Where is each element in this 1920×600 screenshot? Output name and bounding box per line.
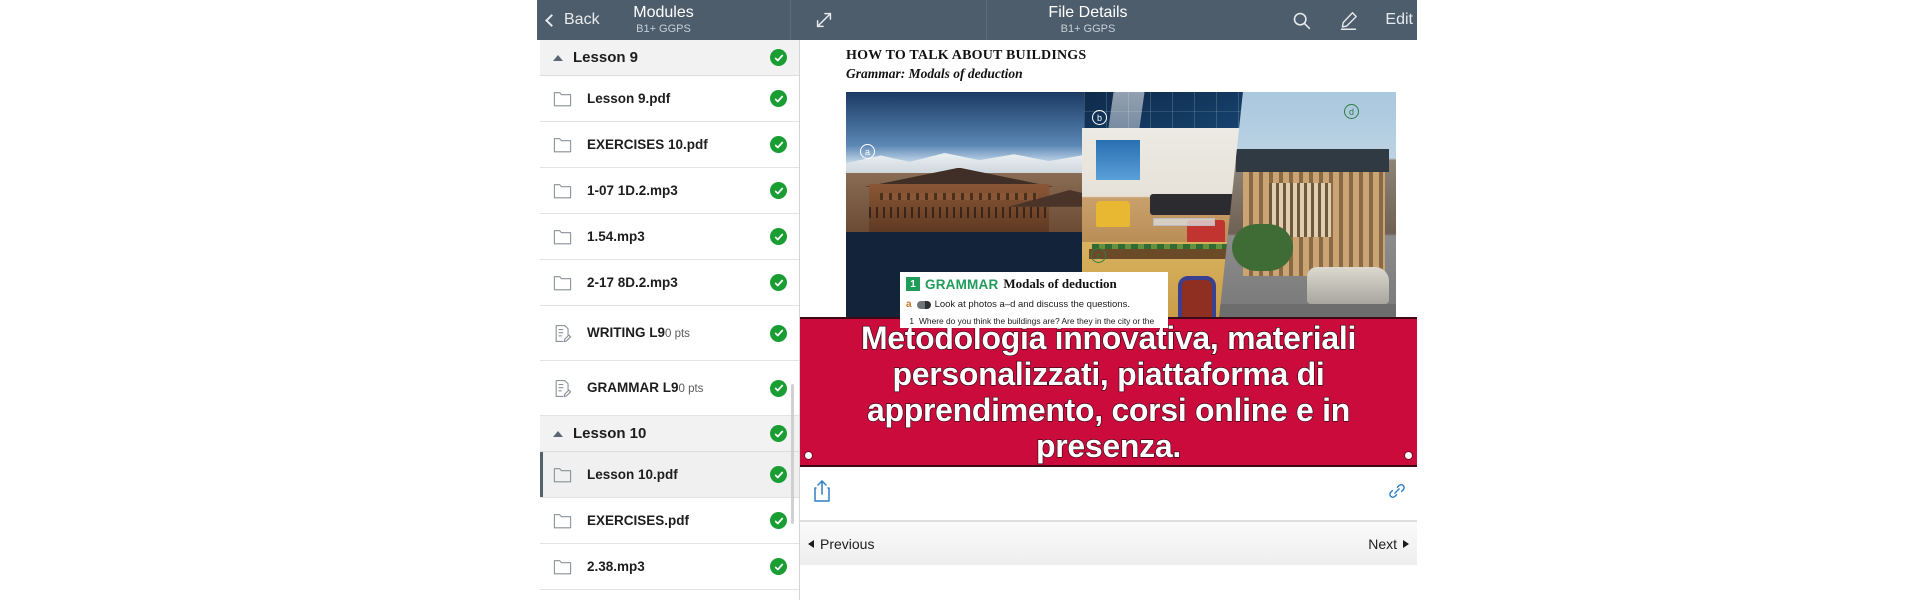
list-item-name: 1.54.mp3 — [587, 229, 645, 244]
list-item[interactable]: Lesson 9.pdf — [540, 76, 799, 122]
grammar-topic: Modals of deduction — [1003, 276, 1116, 292]
status-complete-icon — [770, 380, 787, 397]
list-item-text: 2.38.mp3 — [587, 558, 770, 576]
promo-banner: Metodologia innovativa, materiali person… — [800, 317, 1417, 467]
file-details-subtitle: B1+ GGPS — [987, 22, 1189, 36]
list-item[interactable]: 2.38.mp3 — [540, 544, 799, 590]
file-action-toolbar — [800, 467, 1417, 521]
grammar-task: a Look at photos a–d and discuss the que… — [906, 299, 1164, 311]
folder-icon — [553, 136, 575, 153]
chevron-left-icon — [545, 14, 558, 27]
list-item[interactable]: 2-17 8D.2.mp3 — [540, 260, 799, 306]
search-icon[interactable] — [1291, 10, 1312, 31]
caret-up-icon[interactable] — [553, 55, 563, 61]
status-complete-icon — [770, 228, 787, 245]
grammar-number-badge: 1 — [906, 277, 920, 291]
folder-icon — [553, 274, 575, 291]
photo-interior-lounge — [1082, 128, 1252, 246]
status-complete-icon — [770, 90, 787, 107]
list-item-name: 1-07 1D.2.mp3 — [587, 183, 678, 198]
folder-icon — [553, 182, 575, 199]
list-item-text: WRITING L90 pts — [587, 324, 770, 342]
share-upload-icon[interactable] — [812, 479, 832, 508]
status-complete-icon — [770, 49, 787, 66]
header-file-details-section: File Details B1+ GGPS Edit — [987, 0, 1417, 40]
list-item-name: EXERCISES.pdf — [587, 513, 689, 528]
modules-sidebar[interactable]: Lesson 9Lesson 9.pdfEXERCISES 10.pdf1-07… — [540, 40, 800, 600]
photo-collage: a b c d 1 GRAMMAR Modals of deduction a … — [846, 92, 1396, 328]
grammar-question-text: Where do you think the buildings are? Ar… — [919, 316, 1164, 328]
list-item[interactable]: EXERCISES.pdf — [540, 498, 799, 544]
header-modules-section: Back Modules B1+ GGPS — [537, 0, 791, 40]
grammar-exercise-block: 1 GRAMMAR Modals of deduction a Look at … — [900, 272, 1168, 328]
photo-d-japanese-house — [1218, 92, 1396, 328]
list-item-name: GRAMMAR L9 — [587, 380, 679, 395]
list-item-text: GRAMMAR L90 pts — [587, 379, 770, 397]
list-item[interactable]: 1-07 1D.2.mp3 — [540, 168, 799, 214]
folder-icon — [553, 558, 575, 575]
file-details-pane: HOW TO TALK ABOUT BUILDINGS Grammar: Mod… — [800, 40, 1417, 600]
list-item-points: 0 pts — [679, 383, 704, 395]
status-complete-icon — [770, 425, 787, 442]
sidebar-section-header[interactable]: Lesson 9 — [540, 40, 799, 76]
status-complete-icon — [770, 182, 787, 199]
edit-button[interactable]: Edit — [1385, 11, 1413, 29]
list-item-text: 1.54.mp3 — [587, 228, 770, 246]
promo-banner-text: Metodologia innovativa, materiali person… — [800, 320, 1417, 464]
caret-up-icon[interactable] — [553, 431, 563, 437]
list-item-name: Lesson 10.pdf — [587, 467, 678, 482]
status-complete-icon — [770, 466, 787, 483]
banner-dot-left — [804, 451, 813, 460]
pdf-page-preview[interactable]: HOW TO TALK ABOUT BUILDINGS Grammar: Mod… — [846, 48, 1396, 335]
header-action-group: Edit — [1291, 0, 1417, 40]
sidebar-section-title: Lesson 9 — [573, 49, 770, 66]
next-button[interactable]: Next — [1368, 536, 1409, 552]
list-item-text: 2-17 8D.2.mp3 — [587, 274, 770, 292]
grammar-question: 1Where do you think the buildings are? A… — [906, 316, 1164, 328]
folder-icon — [553, 228, 575, 245]
list-item-text: 1-07 1D.2.mp3 — [587, 182, 770, 200]
grammar-heading: 1 GRAMMAR Modals of deduction — [906, 276, 1164, 292]
back-button[interactable]: Back — [537, 11, 600, 29]
next-label: Next — [1368, 536, 1397, 552]
grammar-label: GRAMMAR — [925, 277, 998, 292]
status-complete-icon — [770, 512, 787, 529]
header-expand-section — [791, 0, 987, 40]
list-item-text: EXERCISES 10.pdf — [587, 136, 770, 154]
pagination-bar: Previous Next — [800, 521, 1417, 565]
file-details-title: File Details — [987, 4, 1189, 22]
assignment-icon — [553, 324, 575, 343]
list-item-points: 0 pts — [665, 328, 690, 340]
photo-label-c: c — [1091, 248, 1106, 263]
detail-pane-filler — [800, 565, 1417, 600]
folder-icon — [553, 512, 575, 529]
app-root: Back Modules B1+ GGPS File Details B1+ G… — [0, 0, 1920, 600]
previous-label: Previous — [820, 536, 874, 552]
folder-icon — [553, 90, 575, 107]
list-item-selected[interactable]: Lesson 10.pdf — [540, 452, 799, 498]
grammar-task-letter: a — [906, 299, 912, 311]
assignment-icon — [553, 379, 575, 398]
back-button-label: Back — [564, 11, 600, 29]
grammar-question-number: 1 — [906, 316, 914, 328]
top-header-bar: Back Modules B1+ GGPS File Details B1+ G… — [537, 0, 1417, 40]
photo-label-a: a — [860, 144, 875, 159]
photo-label-b: b — [1092, 110, 1107, 125]
document-subheading: Grammar: Modals of deduction — [846, 66, 1396, 82]
sidebar-section-title: Lesson 10 — [573, 425, 770, 442]
triangle-left-icon — [808, 540, 814, 548]
grammar-question-list: 1Where do you think the buildings are? A… — [906, 316, 1164, 328]
file-details-title-block: File Details B1+ GGPS — [987, 4, 1189, 36]
previous-button[interactable]: Previous — [808, 536, 874, 552]
list-item-text: EXERCISES.pdf — [587, 512, 770, 530]
triangle-right-icon — [1403, 540, 1409, 548]
folder-icon — [553, 466, 575, 483]
list-item-name: EXERCISES 10.pdf — [587, 137, 708, 152]
list-item[interactable]: EXERCISES 10.pdf — [540, 122, 799, 168]
expand-diagonal-icon[interactable] — [813, 9, 835, 31]
list-item-name: Lesson 9.pdf — [587, 91, 670, 106]
list-item[interactable]: GRAMMAR L90 pts — [540, 361, 799, 416]
sidebar-list: Lesson 9Lesson 9.pdfEXERCISES 10.pdf1-07… — [540, 40, 799, 590]
grammar-task-text: Look at photos a–d and discuss the quest… — [935, 299, 1130, 310]
photo-label-d: d — [1344, 104, 1359, 119]
list-item-name: 2.38.mp3 — [587, 559, 645, 574]
document-heading: HOW TO TALK ABOUT BUILDINGS — [846, 48, 1396, 64]
list-item-name: 2-17 8D.2.mp3 — [587, 275, 678, 290]
sidebar-section-header[interactable]: Lesson 10 — [540, 416, 799, 452]
list-item[interactable]: WRITING L90 pts — [540, 306, 799, 361]
status-complete-icon — [770, 274, 787, 291]
status-complete-icon — [770, 136, 787, 153]
status-complete-icon — [770, 325, 787, 342]
list-item[interactable]: 1.54.mp3 — [540, 214, 799, 260]
status-complete-icon — [770, 558, 787, 575]
speech-bubble-icon — [917, 301, 930, 309]
banner-dot-right — [1404, 451, 1413, 460]
list-item-text: Lesson 10.pdf — [587, 466, 770, 484]
list-item-name: WRITING L9 — [587, 325, 665, 340]
highlighter-pen-icon[interactable] — [1338, 10, 1359, 31]
link-chain-icon[interactable] — [1387, 481, 1407, 506]
list-item-text: Lesson 9.pdf — [587, 90, 770, 108]
sidebar-scrollbar[interactable] — [791, 384, 794, 524]
